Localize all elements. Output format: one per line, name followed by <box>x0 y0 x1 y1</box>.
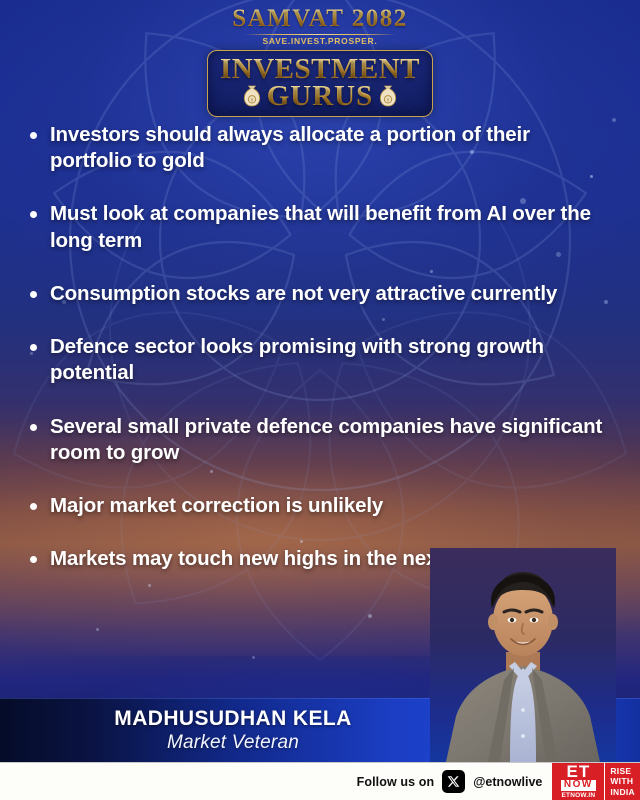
follow-us-group: Follow us on @etnowlive <box>357 770 543 793</box>
speaker-photo <box>430 548 616 762</box>
x-twitter-icon[interactable] <box>442 770 465 793</box>
etnow-et-text: ET <box>566 764 590 779</box>
etnow-logo[interactable]: ET NOW ETNOW.IN RISE WITH INDIA <box>552 763 640 800</box>
title-divider <box>244 34 396 35</box>
list-item: Several small private defence companies … <box>26 414 616 466</box>
bullet-text: Consumption stocks are not very attracti… <box>50 281 557 307</box>
etnow-tagline-line-2: WITH <box>610 776 635 786</box>
event-logo-lockup: SAMVAT 2082 SAVE.INVEST.PROSPER. INVESTM… <box>0 6 640 117</box>
footer-bar: Follow us on @etnowlive ET NOW ETNOW.IN … <box>0 762 640 800</box>
speaker-portrait-illustration <box>430 548 616 762</box>
etnow-website: ETNOW.IN <box>561 792 595 799</box>
etnow-tagline-line-1: RISE <box>610 766 635 776</box>
bullet-dot-icon <box>30 424 37 431</box>
bullet-dot-icon <box>30 556 37 563</box>
bullet-text: Investors should always allocate a porti… <box>50 122 606 174</box>
samvat-title: SAMVAT 2082 <box>232 6 408 32</box>
bullet-dot-icon <box>30 291 37 298</box>
event-tagline: SAVE.INVEST.PROSPER. <box>263 36 378 46</box>
list-item: Defence sector looks promising with stro… <box>26 334 616 386</box>
etnow-tagline-line-3: INDIA <box>610 787 635 797</box>
speaker-name: MADHUSUDHAN KELA <box>114 707 351 730</box>
etnow-tagline: RISE WITH INDIA <box>604 763 640 800</box>
list-item: Major market correction is unlikely <box>26 493 616 519</box>
etnow-logo-mark: ET NOW ETNOW.IN <box>552 763 604 800</box>
svg-text:₹: ₹ <box>387 98 390 104</box>
badge-title-gurus: GURUS <box>267 82 374 111</box>
bullet-text: Defence sector looks promising with stro… <box>50 334 606 386</box>
moneybag-icon-left: ₹ <box>242 84 262 108</box>
bullet-dot-icon <box>30 503 37 510</box>
social-handle[interactable]: @etnowlive <box>473 775 542 789</box>
list-item: Must look at companies that will benefit… <box>26 201 616 253</box>
investment-gurus-card: SAMVAT 2082 SAVE.INVEST.PROSPER. INVESTM… <box>0 0 640 800</box>
follow-label: Follow us on <box>357 775 435 789</box>
svg-text:₹: ₹ <box>250 98 253 104</box>
etnow-now-text: NOW <box>561 780 596 791</box>
investment-gurus-badge: INVESTMENT ₹ GURUS ₹ <box>207 50 433 116</box>
bullet-dot-icon <box>30 344 37 351</box>
list-item: Investors should always allocate a porti… <box>26 122 616 174</box>
quote-bullet-list: Investors should always allocate a porti… <box>26 122 616 600</box>
list-item: Consumption stocks are not very attracti… <box>26 281 616 307</box>
bullet-text: Major market correction is unlikely <box>50 493 383 519</box>
bullet-text: Several small private defence companies … <box>50 414 606 466</box>
bullet-text: Must look at companies that will benefit… <box>50 201 606 253</box>
moneybag-icon-right: ₹ <box>378 84 398 108</box>
speaker-role: Market Veteran <box>167 732 299 754</box>
bullet-dot-icon <box>30 132 37 139</box>
bullet-dot-icon <box>30 211 37 218</box>
